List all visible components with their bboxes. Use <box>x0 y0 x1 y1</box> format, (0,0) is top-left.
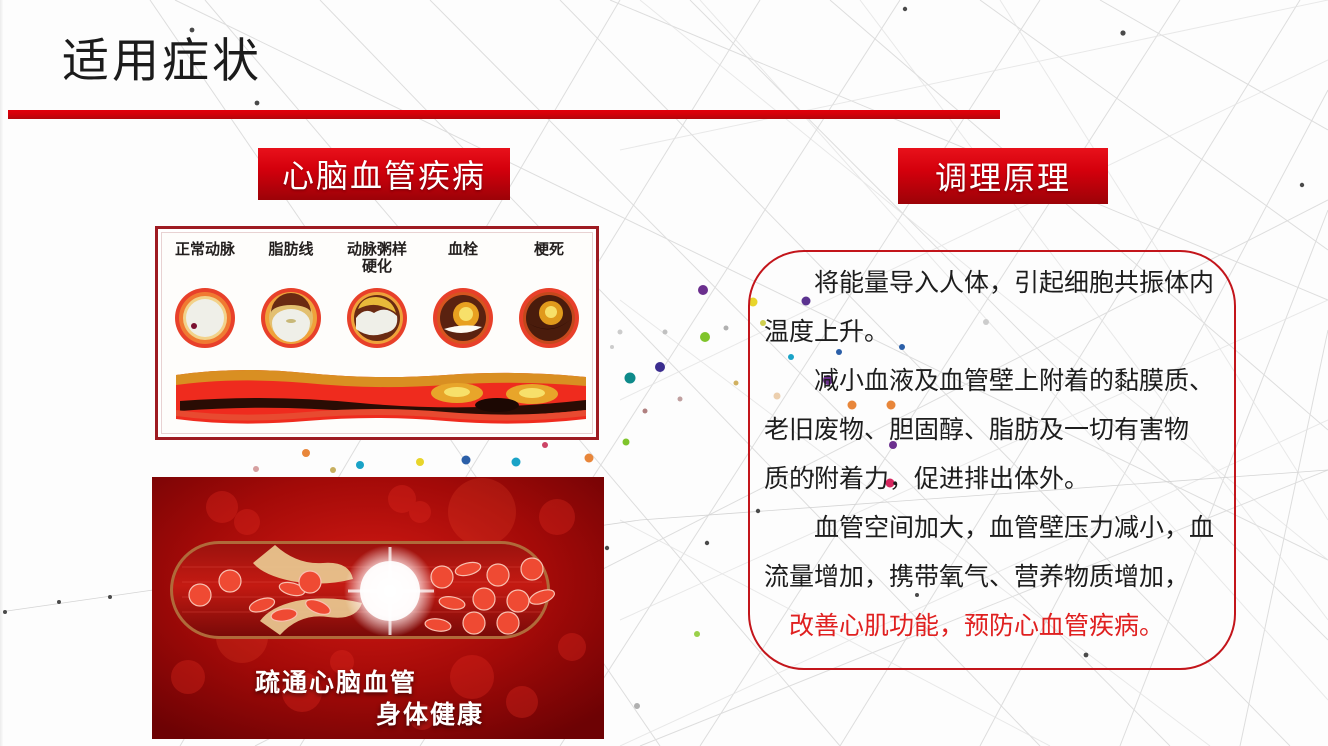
principle-line-1: 将能量导入人体，引起细胞共振体内 <box>764 258 1222 307</box>
principle-line-5: 质的附着力，促进排出体外。 <box>764 454 1222 503</box>
artery-cross-section-5 <box>516 285 582 351</box>
figure-label-infarction: 梗死 <box>512 241 586 258</box>
page-title: 适用症状 <box>62 34 262 90</box>
figure-label-atherosclerosis: 动脉粥样硬化 <box>340 241 414 275</box>
photo-caption-line-2: 身体健康 <box>204 695 604 731</box>
principle-line-7: 流量增加，携带氧气、营养物质增加， <box>764 552 1222 601</box>
blood-vessel-photo: 疏通心脑血管 身体健康 <box>152 477 604 739</box>
figure-label-row: 正常动脉 脂肪线 动脉粥样硬化 血栓 梗死 <box>162 241 592 275</box>
figure-label-thrombus: 血栓 <box>426 241 500 258</box>
figure-label-fatty-streak: 脂肪线 <box>254 241 328 258</box>
banner-conditioning-principle: 调理原理 <box>898 148 1108 204</box>
slide-left-edge <box>0 0 3 746</box>
longitudinal-vessel-illustration <box>172 361 590 431</box>
title-underline-rule <box>8 110 1000 119</box>
principle-line-8-highlight: 改善心肌功能，预防心血管疾病。 <box>764 601 1222 650</box>
principle-line-4: 老旧废物、胆固醇、脂肪及一切有害物 <box>764 405 1222 454</box>
artery-cross-section-4 <box>430 285 496 351</box>
principle-text-body: 将能量导入人体，引起细胞共振体内 温度上升。 减小血液及血管壁上附着的黏膜质、 … <box>764 258 1222 650</box>
artery-cross-section-2 <box>258 285 324 351</box>
atherosclerosis-figure: 正常动脉 脂肪线 动脉粥样硬化 血栓 梗死 <box>161 232 593 434</box>
banner-cardiovascular-disease: 心脑血管疾病 <box>258 148 510 200</box>
artery-cross-section-3 <box>344 285 410 351</box>
figure-label-normal-artery: 正常动脉 <box>168 241 242 258</box>
principle-line-3: 减小血液及血管壁上附着的黏膜质、 <box>764 356 1222 405</box>
artery-cross-section-1 <box>172 285 238 351</box>
slide-canvas: 适用症状 心脑血管疾病 调理原理 正常动脉 脂肪线 动脉粥样硬化 血栓 梗死 <box>0 0 1328 746</box>
principle-line-2: 温度上升。 <box>764 307 1222 356</box>
artery-cross-sections <box>162 285 592 351</box>
atherosclerosis-figure-frame: 正常动脉 脂肪线 动脉粥样硬化 血栓 梗死 <box>155 226 599 440</box>
principle-line-6: 血管空间加大，血管壁压力减小，血 <box>764 503 1222 552</box>
photo-caption-line-1: 疏通心脑血管 <box>152 663 562 699</box>
